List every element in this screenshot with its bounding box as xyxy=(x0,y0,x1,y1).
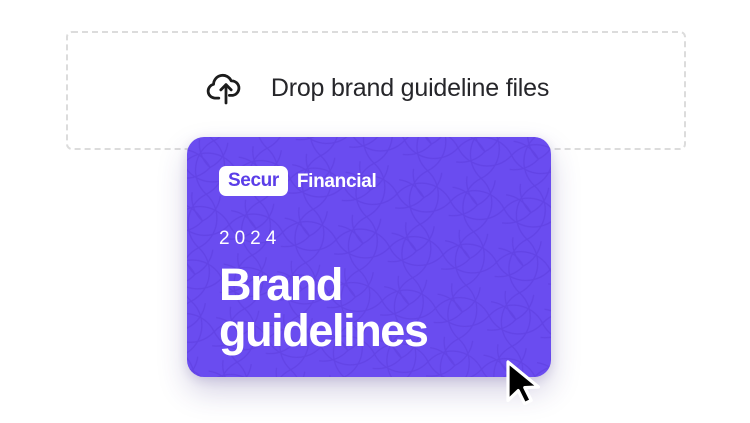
card-content: Secur Financial 2024 Brand guidelines xyxy=(219,166,529,354)
dropzone-content: Drop brand guideline files xyxy=(68,33,684,148)
dropzone-label: Drop brand guideline files xyxy=(271,74,549,103)
card-title-line-2: guidelines xyxy=(219,308,529,354)
card-title-line-1: Brand xyxy=(219,262,529,308)
cloud-upload-icon xyxy=(203,66,249,112)
brand-guidelines-card[interactable]: Secur Financial 2024 Brand guidelines xyxy=(187,137,551,377)
card-year: 2024 xyxy=(219,229,529,248)
app-canvas: Drop brand guideline files xyxy=(0,0,750,423)
file-dropzone[interactable]: Drop brand guideline files xyxy=(66,31,686,150)
logo-wordmark: Financial xyxy=(297,172,377,191)
logo-badge-text: Secur xyxy=(228,171,279,190)
logo-badge: Secur xyxy=(219,166,288,196)
brand-logo-lockup: Secur Financial xyxy=(219,166,529,196)
card-title: Brand guidelines xyxy=(219,262,529,354)
